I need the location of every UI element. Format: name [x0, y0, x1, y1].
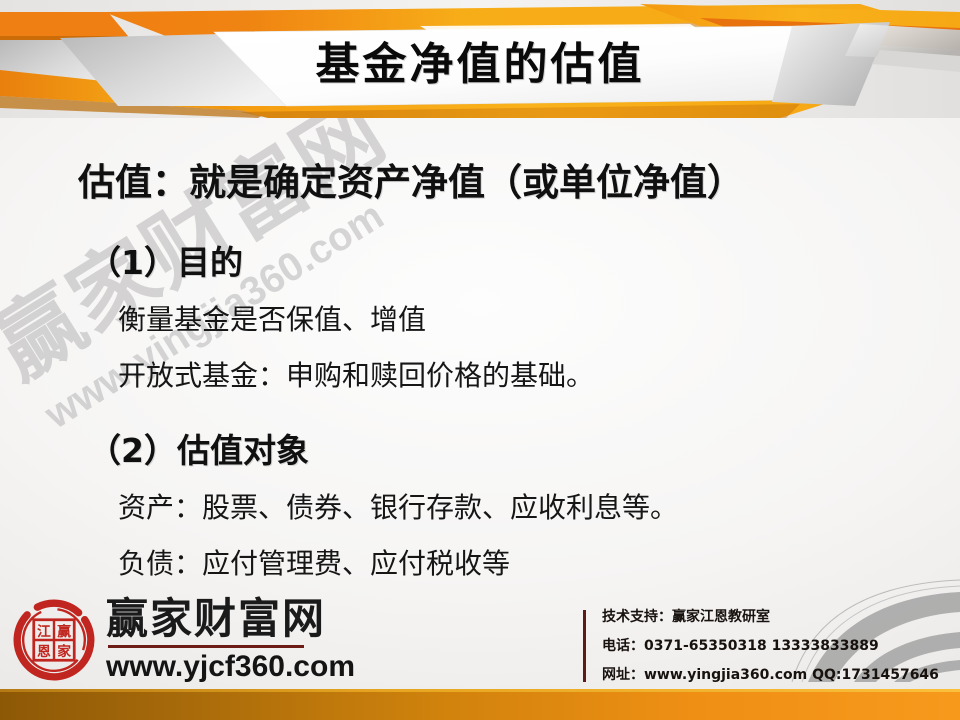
section-2: （2）估值对象 资产：股票、债券、银行存款、应收利息等。 负债：应付管理费、应付…: [0, 424, 960, 582]
brand-website-url: www.yjcf360.com: [106, 650, 355, 683]
contact-web-qq-line: 网址：www.yingjia360.com QQ:1731457646: [602, 668, 939, 682]
seal-char-4: 家: [57, 643, 71, 660]
slide-content: 估值：就是确定资产净值（或单位净值） （1）目的 衡量基金是否保值、增值 开放式…: [0, 130, 960, 582]
lead-statement: 估值：就是确定资产净值（或单位净值）: [78, 152, 960, 206]
slide-canvas: 赢家财富网 www.yingjia360.com: [0, 0, 960, 720]
brand-divider: [108, 645, 304, 648]
logo-wordmark: 赢家财富网 www.yjcf360.com: [106, 597, 355, 682]
contact-info: 技术支持：赢家江恩教研室 电话：0371-65350318 1333383388…: [583, 610, 939, 682]
seal-char-3: 恩: [37, 644, 51, 660]
brand-name-cn: 赢家财富网: [106, 597, 355, 641]
page-title: 基金净值的估值: [0, 28, 960, 92]
footer-accent-bar: [0, 689, 960, 720]
section-1: （1）目的 衡量基金是否保值、增值 开放式基金：申购和赎回价格的基础。: [0, 236, 960, 394]
section-1-item-2: 开放式基金：申购和赎回价格的基础。: [118, 354, 960, 394]
section-2-item-2: 负债：应付管理费、应付税收等: [118, 542, 960, 582]
section-1-heading: （1）目的: [88, 236, 960, 284]
section-2-item-1: 资产：股票、债券、银行存款、应收利息等。: [118, 486, 960, 526]
seal-stamp-icon: 江 赢 恩 家: [8, 594, 100, 686]
contact-support-line: 技术支持：赢家江恩教研室: [602, 610, 939, 624]
seal-char-2: 赢: [57, 623, 71, 640]
seal-char-1: 江: [37, 623, 51, 640]
contact-phone-line: 电话：0371-65350318 13333833889: [602, 639, 939, 653]
section-1-item-1: 衡量基金是否保值、增值: [118, 298, 960, 338]
section-2-heading: （2）估值对象: [88, 424, 960, 472]
site-logo[interactable]: 江 赢 恩 家 赢家财富网 www.yjcf360.com: [8, 594, 355, 686]
